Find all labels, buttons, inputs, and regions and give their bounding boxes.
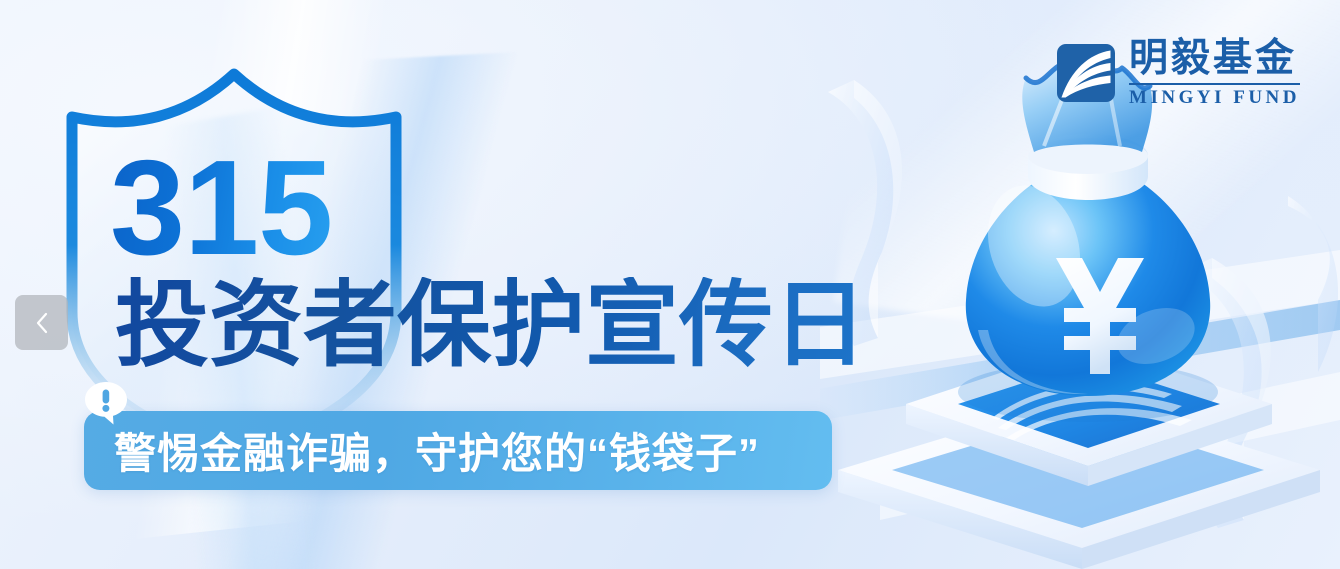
exclamation-bubble-icon: [83, 381, 129, 425]
subtitle-text: 警惕金融诈骗，守护您的“钱袋子”: [114, 420, 760, 481]
chevron-left-icon: [34, 311, 50, 335]
subtitle-banner: 警惕金融诈骗，守护您的“钱袋子”: [84, 411, 832, 490]
promo-banner: 315 投资者保护宣传日 警惕金融诈骗，守护您的“钱袋子”: [0, 0, 1340, 569]
mingyi-fan-logo-mark: [1057, 44, 1115, 102]
page-title: 投资者保护宣传日: [115, 277, 867, 373]
brand-name-en: MINGYI FUND: [1129, 88, 1300, 107]
brand-name-cn: 明毅基金: [1129, 38, 1300, 80]
carousel-prev-button[interactable]: [15, 295, 68, 350]
brand-divider: [1129, 83, 1300, 85]
brand-logo: 明毅基金 MINGYI FUND: [1057, 38, 1300, 107]
campaign-number: 315: [110, 140, 332, 275]
